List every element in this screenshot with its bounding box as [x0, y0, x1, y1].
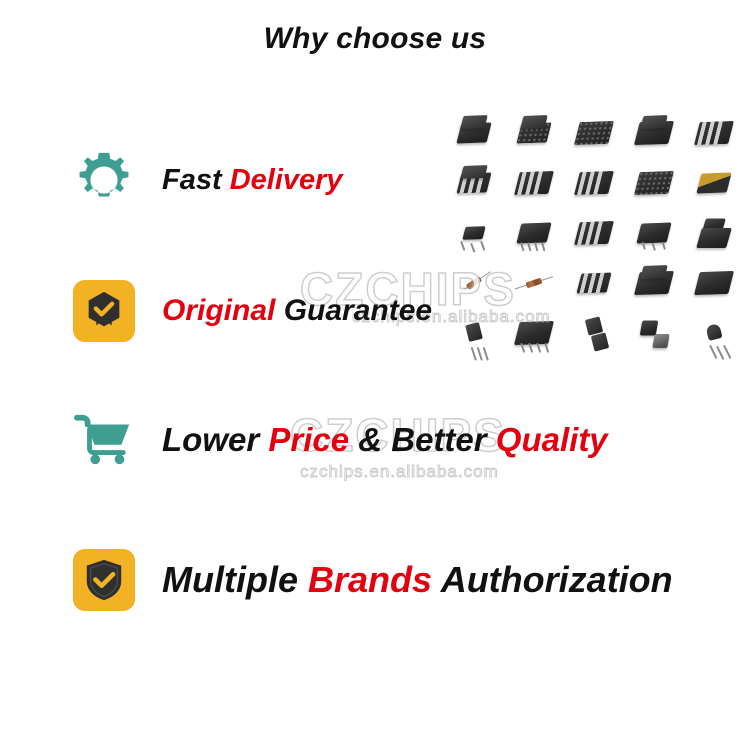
gear-icon: [70, 146, 138, 214]
chip-package: [630, 160, 678, 206]
chip-package: [690, 110, 738, 156]
feature-row-original-guarantee: Original Guarantee: [70, 277, 432, 345]
feature-text-highlight: Quality: [496, 421, 608, 458]
resistor-component: [450, 260, 498, 306]
feature-label: Fast Delivery: [162, 166, 343, 195]
feature-text-highlight: Delivery: [230, 164, 343, 196]
icon-tile: [73, 549, 135, 611]
chip-package: [630, 260, 678, 306]
transistor-component: [570, 310, 618, 356]
feature-text-part: & Better: [349, 421, 496, 458]
page-title: Why choose us: [0, 22, 750, 56]
chip-package: [570, 110, 618, 156]
feature-row-multiple-brands: Multiple Brands Authorization: [70, 546, 673, 614]
chip-package: [630, 210, 678, 256]
chip-grid: [444, 108, 744, 358]
feature-label: Original Guarantee: [162, 296, 432, 326]
feature-label: Multiple Brands Authorization: [162, 562, 673, 598]
feature-text-part: Multiple: [162, 559, 308, 600]
chip-package: [570, 160, 618, 206]
chip-package: [690, 160, 738, 206]
feature-text-part: Fast: [162, 164, 230, 196]
product-image-chips-collage: [444, 108, 744, 358]
chip-package: [630, 110, 678, 156]
feature-text-part: Lower: [162, 421, 268, 458]
feature-label: Lower Price & Better Quality: [162, 423, 608, 456]
award-badge-icon: [70, 277, 138, 345]
transistor-component: [450, 310, 498, 356]
shopping-cart-icon: [70, 405, 138, 473]
feature-text-part: Authorization: [432, 559, 673, 600]
chip-package: [450, 160, 498, 206]
chip-package: [450, 210, 498, 256]
transistor-component: [630, 310, 678, 356]
feature-text-part: Guarantee: [284, 294, 432, 327]
transistor-component: [690, 310, 738, 356]
feature-row-lower-price: Lower Price & Better Quality: [70, 405, 608, 473]
feature-text-highlight: Original: [162, 294, 284, 327]
shield-check-icon: [70, 546, 138, 614]
icon-tile: [73, 280, 135, 342]
chip-package: [510, 210, 558, 256]
diode-component: [510, 260, 558, 306]
chip-package: [690, 210, 738, 256]
chip-package: [510, 310, 558, 356]
chip-package: [570, 260, 618, 306]
chip-package: [690, 260, 738, 306]
chip-package: [450, 110, 498, 156]
chip-package: [510, 160, 558, 206]
feature-text-highlight: Brands: [308, 559, 432, 600]
chip-package: [570, 210, 618, 256]
chip-package: [510, 110, 558, 156]
feature-row-fast-delivery: Fast Delivery: [70, 146, 343, 214]
feature-text-highlight: Price: [268, 421, 349, 458]
why-choose-us-banner: Why choose us: [0, 0, 750, 750]
